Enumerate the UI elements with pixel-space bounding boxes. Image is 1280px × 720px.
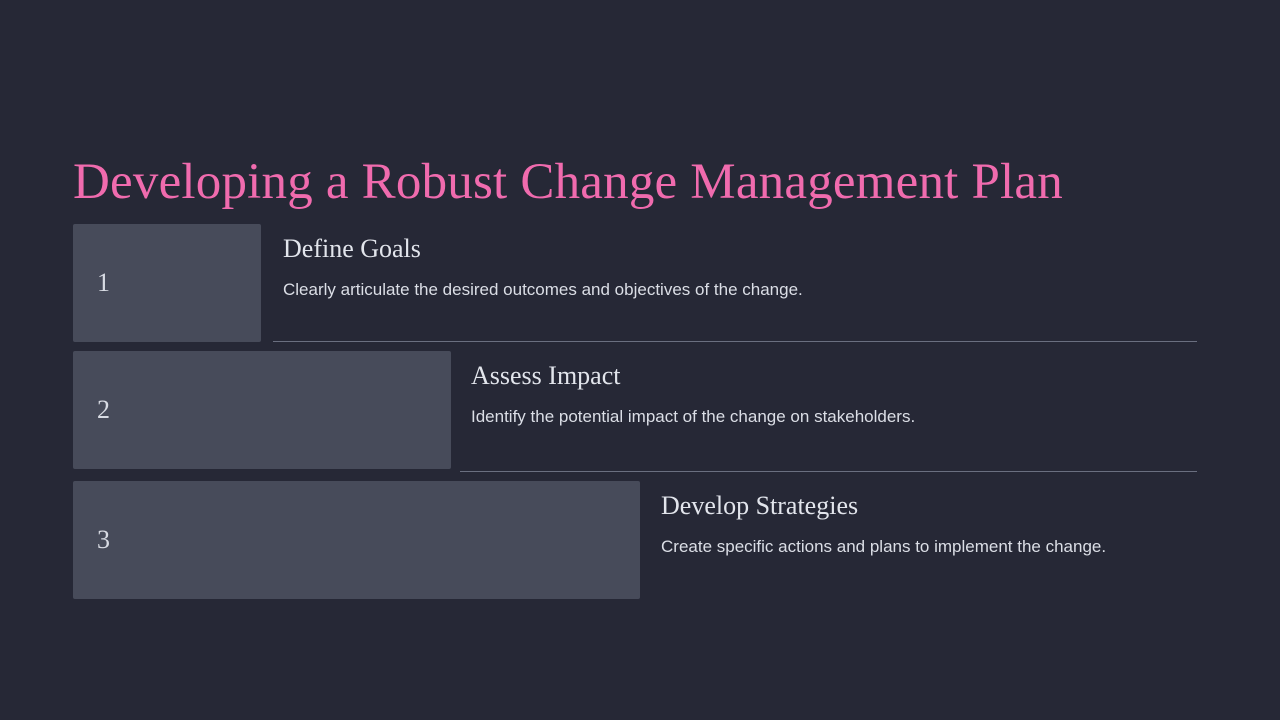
step-number-label: 1 [97, 268, 110, 298]
step-heading: Define Goals [283, 232, 1198, 266]
step-row[interactable]: 3 Develop Strategies Create specific act… [0, 481, 1280, 611]
step-text-block: Define Goals Clearly articulate the desi… [283, 232, 1198, 302]
step-description: Identify the potential impact of the cha… [471, 405, 1198, 429]
step-divider [460, 471, 1197, 472]
step-number-card: 3 [73, 481, 640, 599]
slide-canvas: Developing a Robust Change Management Pl… [0, 0, 1280, 720]
step-text-block: Assess Impact Identify the potential imp… [471, 359, 1198, 429]
step-description: Clearly articulate the desired outcomes … [283, 278, 1198, 302]
step-row[interactable]: 2 Assess Impact Identify the potential i… [0, 351, 1280, 481]
step-divider [273, 341, 1197, 342]
step-number-card: 1 [73, 224, 261, 342]
step-text-block: Develop Strategies Create specific actio… [661, 489, 1198, 559]
step-row[interactable]: 1 Define Goals Clearly articulate the de… [0, 224, 1280, 352]
step-number-label: 2 [97, 395, 110, 425]
step-number-card: 2 [73, 351, 451, 469]
step-heading: Develop Strategies [661, 489, 1198, 523]
page-title: Developing a Robust Change Management Pl… [73, 148, 1203, 216]
step-number-label: 3 [97, 525, 110, 555]
step-heading: Assess Impact [471, 359, 1198, 393]
step-description: Create specific actions and plans to imp… [661, 535, 1198, 559]
